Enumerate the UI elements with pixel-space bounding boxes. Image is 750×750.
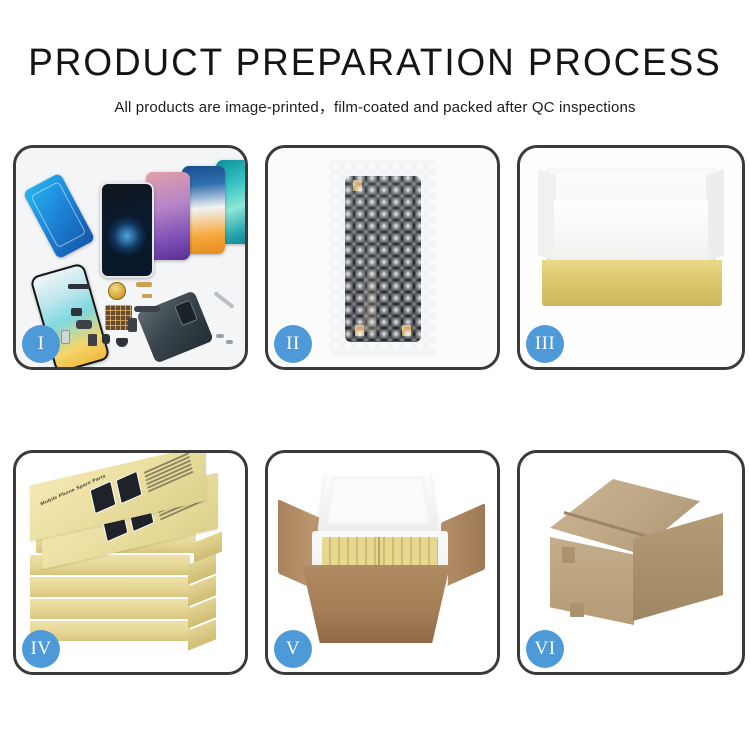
display-glow <box>107 216 147 256</box>
flex-cable-2 <box>88 334 97 346</box>
process-panel-grid: I II III <box>0 145 750 675</box>
step-badge-5: V <box>274 630 312 668</box>
page-header: PRODUCT PREPARATION PROCESS All products… <box>0 0 750 117</box>
gold-contact-1 <box>136 282 152 287</box>
carton-tape-upper <box>562 547 575 563</box>
step-badge-6: VI <box>526 630 564 668</box>
step-badge-2: II <box>274 325 312 363</box>
panel-step-3[interactable]: III <box>517 145 745 370</box>
carton-tape-lower <box>570 603 584 617</box>
carton-body <box>302 565 450 643</box>
flex-cable-4 <box>128 318 137 332</box>
foam-box-lid <box>317 471 439 532</box>
part-strip-2 <box>71 308 82 316</box>
flex-cable-1 <box>76 320 92 329</box>
bubble-wrap-bag <box>330 160 436 356</box>
speaker-coil-part <box>108 282 126 300</box>
part-button <box>102 334 110 344</box>
box-art-screen-4 <box>116 471 143 505</box>
part-sim-tray <box>61 330 70 344</box>
panel-step-1[interactable]: I <box>13 145 248 370</box>
box-art-screen-3 <box>90 481 117 515</box>
box-spec-lines-top <box>144 453 194 496</box>
panel-step-5[interactable]: V <box>265 450 500 675</box>
step-badge-1: I <box>22 325 60 363</box>
panel-step-6[interactable]: VI <box>517 450 745 675</box>
bubble-texture-offset <box>330 160 436 356</box>
page-subtitle: All products are image-printed，film-coat… <box>0 82 750 117</box>
page-title: PRODUCT PREPARATION PROCESS <box>11 0 739 82</box>
panel-step-2[interactable]: II <box>265 145 500 370</box>
flex-cable-3 <box>134 306 160 312</box>
step-badge-4: IV <box>22 630 60 668</box>
part-screw-2 <box>226 340 233 344</box>
step-badge-3: III <box>526 325 564 363</box>
phone-black-display <box>100 182 154 278</box>
gold-contact-2 <box>142 294 152 298</box>
yellow-inner-box <box>542 260 722 306</box>
part-strip-1 <box>68 284 90 289</box>
box-stack: Mobile Phone Spare Parts Mobile Phone Sp… <box>30 471 230 651</box>
white-foam-sheet <box>554 200 708 262</box>
part-screw-1 <box>216 334 224 338</box>
panel-step-4[interactable]: Mobile Phone Spare Parts Mobile Phone Sp… <box>13 450 248 675</box>
